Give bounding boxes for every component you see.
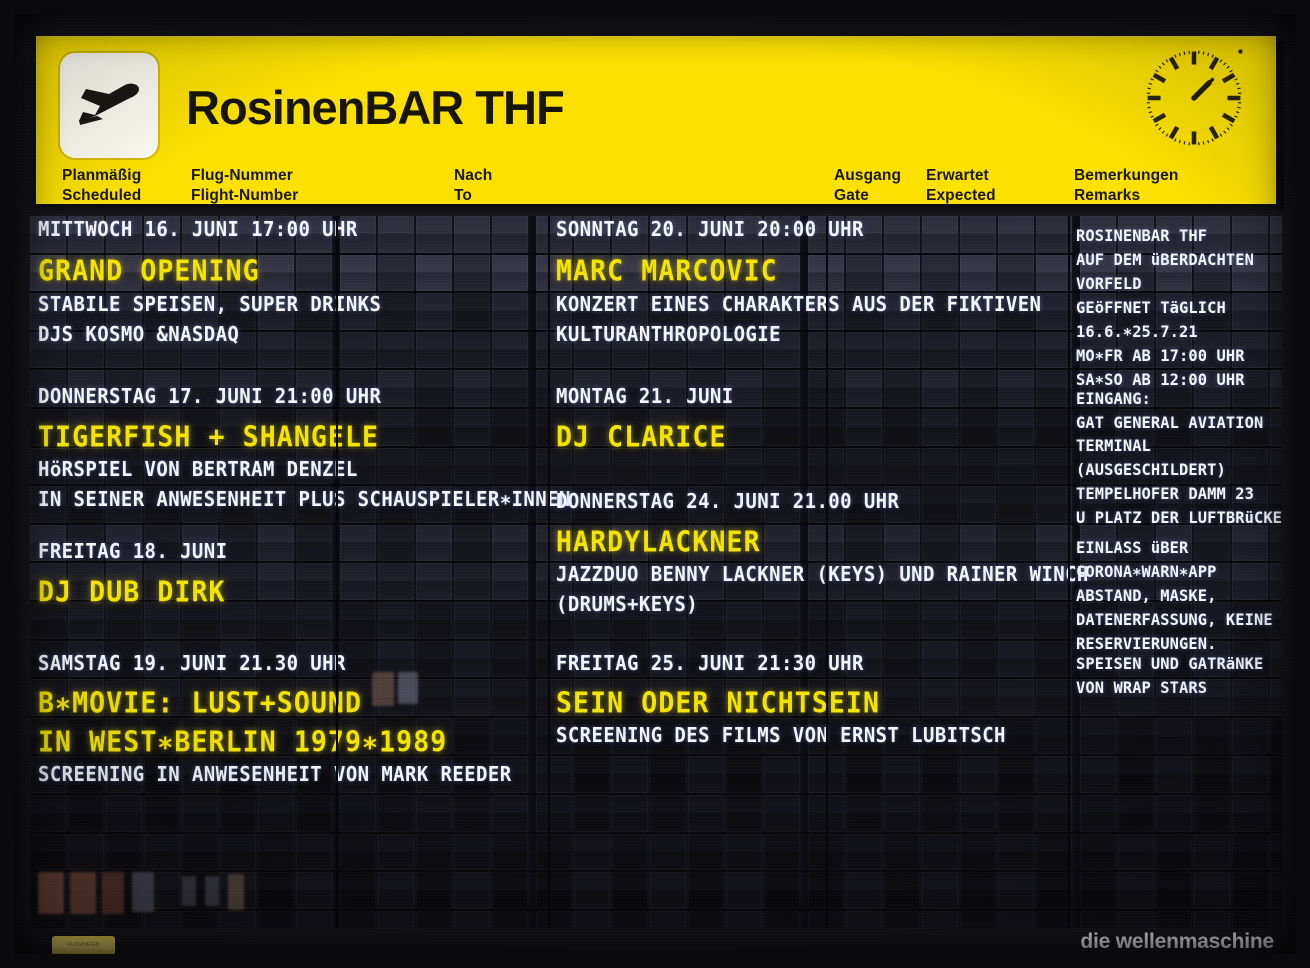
- flap-module: [574, 679, 610, 716]
- flap-module: [340, 834, 376, 871]
- flap-module: [258, 756, 294, 793]
- flap-module: [998, 795, 1034, 832]
- flap-module: [1118, 795, 1154, 832]
- flap-module: [922, 216, 958, 253]
- flap-module: [612, 332, 648, 369]
- flap-module: [1036, 872, 1072, 909]
- flap-module: [416, 641, 452, 678]
- flap-module: [1156, 679, 1192, 716]
- flap-module: [884, 602, 920, 639]
- flap-module: [1232, 370, 1268, 407]
- flap-module: [416, 293, 452, 330]
- flap-module: [846, 834, 882, 871]
- flap-module: [574, 602, 610, 639]
- flap-module: [650, 216, 686, 253]
- flap-module: [612, 756, 648, 793]
- flap-module: [1232, 795, 1268, 832]
- flap-module: [258, 409, 294, 446]
- flap-module: [1080, 872, 1116, 909]
- flap-module: [378, 834, 414, 871]
- flap-module: [1118, 370, 1154, 407]
- flap-module: [612, 641, 648, 678]
- flap-module: [922, 525, 958, 562]
- flap-module: [612, 718, 648, 755]
- flap-module: [764, 872, 800, 909]
- flap-module: [1036, 756, 1072, 793]
- flap-module: [960, 756, 996, 793]
- flap-module: [1080, 448, 1116, 485]
- grid-divider: [826, 216, 828, 928]
- flap-module: [574, 448, 610, 485]
- flap-module: [612, 795, 648, 832]
- flap-module: [998, 872, 1034, 909]
- flap-module: [340, 872, 376, 909]
- flap-module: [30, 293, 66, 330]
- flap-module: [726, 486, 762, 523]
- flap-module: [764, 486, 800, 523]
- flap-module: [574, 872, 610, 909]
- flap-module: [998, 679, 1034, 716]
- flap-module: [182, 409, 218, 446]
- flap-module: [454, 486, 490, 523]
- flap-module: [1194, 911, 1230, 928]
- flap-module: [726, 872, 762, 909]
- flap-module: [1270, 563, 1282, 600]
- flap-module: [220, 409, 256, 446]
- flap-module: [922, 795, 958, 832]
- flap-module: [726, 834, 762, 871]
- flap-module: [574, 911, 610, 928]
- flap-artifact: [70, 872, 96, 914]
- flap-row: [30, 911, 1282, 928]
- flap-module: [182, 679, 218, 716]
- flap-module: [258, 255, 294, 292]
- flap-module: [492, 911, 528, 928]
- flap-module: [182, 293, 218, 330]
- flap-module: [296, 563, 332, 600]
- flap-module: [536, 718, 572, 755]
- flap-module: [846, 486, 882, 523]
- flap-module: [182, 486, 218, 523]
- flap-module: [688, 718, 724, 755]
- flap-module: [764, 563, 800, 600]
- flap-module: [612, 448, 648, 485]
- flap-module: [492, 370, 528, 407]
- flap-module: [30, 679, 66, 716]
- flap-module: [764, 216, 800, 253]
- flap-module: [960, 679, 996, 716]
- flap-module: [1194, 409, 1230, 446]
- flap-module: [764, 525, 800, 562]
- flap-module: [416, 255, 452, 292]
- flap-module: [492, 448, 528, 485]
- flap-module: [884, 872, 920, 909]
- flap-module: [68, 641, 104, 678]
- flap-module: [922, 911, 958, 928]
- flap-module: [846, 756, 882, 793]
- flap-module: [416, 409, 452, 446]
- flap-module: [492, 602, 528, 639]
- flap-module: [296, 718, 332, 755]
- flap-module: [884, 448, 920, 485]
- flap-module: [416, 679, 452, 716]
- flap-module: [1118, 525, 1154, 562]
- flap-module: [1156, 255, 1192, 292]
- flap-module: [688, 255, 724, 292]
- flap-module: [68, 370, 104, 407]
- flap-module: [998, 409, 1034, 446]
- flap-module: [1036, 448, 1072, 485]
- flap-module: [960, 370, 996, 407]
- flap-module: [612, 911, 648, 928]
- flap-module: [258, 679, 294, 716]
- flap-row: [30, 448, 1282, 487]
- flap-module: [574, 525, 610, 562]
- flap-module: [220, 293, 256, 330]
- flap-module: [574, 370, 610, 407]
- sticker-line-1: FLUGHAFEN: [52, 942, 115, 950]
- flap-module: [1156, 602, 1192, 639]
- flap-module: [846, 679, 882, 716]
- flap-module: [258, 718, 294, 755]
- flap-module: [726, 293, 762, 330]
- flap-module: [726, 255, 762, 292]
- flap-module: [960, 911, 996, 928]
- flap-module: [220, 679, 256, 716]
- flap-module: [106, 679, 142, 716]
- station-clock: [1140, 44, 1248, 152]
- flap-module: [454, 563, 490, 600]
- flap-module: [1118, 641, 1154, 678]
- flap-module: [182, 795, 218, 832]
- flap-module: [220, 525, 256, 562]
- flap-module: [106, 216, 142, 253]
- flap-module: [922, 332, 958, 369]
- flap-module: [340, 795, 376, 832]
- flap-module: [220, 602, 256, 639]
- flap-artifact: [132, 872, 154, 912]
- flap-module: [1232, 756, 1268, 793]
- flap-module: [1156, 563, 1192, 600]
- flap-module: [574, 409, 610, 446]
- flap-module: [296, 448, 332, 485]
- flap-module: [454, 718, 490, 755]
- flap-module: [884, 486, 920, 523]
- flap-module: [182, 911, 218, 928]
- flap-module: [258, 563, 294, 600]
- flap-module: [378, 293, 414, 330]
- flap-module: [258, 795, 294, 832]
- flap-module: [884, 834, 920, 871]
- flap-module: [492, 255, 528, 292]
- flap-module: [688, 602, 724, 639]
- flap-module: [492, 332, 528, 369]
- flap-module: [340, 409, 376, 446]
- flap-module: [1270, 486, 1282, 523]
- flap-module: [846, 255, 882, 292]
- flap-module: [340, 602, 376, 639]
- flap-module: [1036, 486, 1072, 523]
- flap-module: [612, 409, 648, 446]
- flap-module: [220, 718, 256, 755]
- flap-module: [296, 872, 332, 909]
- flap-module: [68, 834, 104, 871]
- flap-module: [220, 332, 256, 369]
- flap-module: [1080, 525, 1116, 562]
- flap-module: [1080, 641, 1116, 678]
- flap-module: [258, 872, 294, 909]
- flap-module: [416, 872, 452, 909]
- flap-module: [612, 525, 648, 562]
- flap-module: [454, 679, 490, 716]
- flap-module: [182, 756, 218, 793]
- flap-module: [106, 834, 142, 871]
- flap-module: [68, 602, 104, 639]
- flap-module: [378, 255, 414, 292]
- flap-module: [296, 409, 332, 446]
- flap-module: [340, 563, 376, 600]
- flap-module: [1156, 486, 1192, 523]
- flap-module: [30, 718, 66, 755]
- flap-module: [1194, 679, 1230, 716]
- flap-module: [68, 679, 104, 716]
- flap-module: [764, 795, 800, 832]
- flap-module: [536, 216, 572, 253]
- flap-module: [182, 448, 218, 485]
- flap-module: [1080, 718, 1116, 755]
- flap-module: [340, 641, 376, 678]
- flap-module: [258, 448, 294, 485]
- flap-module: [340, 486, 376, 523]
- airplane-departure-icon: [60, 53, 158, 158]
- flap-module: [846, 409, 882, 446]
- flap-module: [416, 602, 452, 639]
- flap-row: [30, 795, 1282, 834]
- flap-module: [296, 525, 332, 562]
- flap-module: [296, 602, 332, 639]
- flap-module: [1118, 486, 1154, 523]
- flap-module: [612, 293, 648, 330]
- flap-module: [220, 641, 256, 678]
- flap-module: [536, 756, 572, 793]
- sticker-line-2: TEMPELHOF: [52, 956, 115, 961]
- flap-module: [1270, 718, 1282, 755]
- flap-module: [1270, 641, 1282, 678]
- column-header-to: Nach To: [454, 166, 492, 207]
- flap-module: [1118, 332, 1154, 369]
- flap-module: [612, 486, 648, 523]
- flap-module: [454, 293, 490, 330]
- flap-module: [922, 563, 958, 600]
- flap-module: [846, 872, 882, 909]
- flap-module: [650, 448, 686, 485]
- flap-module: [258, 641, 294, 678]
- flap-module: [960, 718, 996, 755]
- flap-module: [922, 255, 958, 292]
- flap-module: [922, 409, 958, 446]
- flap-module: [650, 911, 686, 928]
- flap-module: [1270, 293, 1282, 330]
- flap-module: [612, 602, 648, 639]
- flap-module: [960, 255, 996, 292]
- flap-module: [68, 409, 104, 446]
- flap-module: [574, 718, 610, 755]
- flap-module: [536, 602, 572, 639]
- flap-module: [922, 679, 958, 716]
- flap-module: [258, 602, 294, 639]
- flap-module: [296, 293, 332, 330]
- flap-module: [1270, 409, 1282, 446]
- flap-module: [144, 486, 180, 523]
- flap-module: [688, 872, 724, 909]
- flap-module: [296, 795, 332, 832]
- flap-module: [846, 718, 882, 755]
- flap-module: [416, 332, 452, 369]
- flap-module: [922, 293, 958, 330]
- flap-module: [492, 525, 528, 562]
- flap-module: [1194, 448, 1230, 485]
- flap-module: [960, 216, 996, 253]
- flap-module: [1036, 834, 1072, 871]
- flap-module: [998, 602, 1034, 639]
- flap-module: [182, 834, 218, 871]
- flap-module: [922, 448, 958, 485]
- flap-module: [688, 834, 724, 871]
- flap-module: [1080, 563, 1116, 600]
- flap-module: [1036, 409, 1072, 446]
- flap-module: [340, 255, 376, 292]
- flap-module: [1232, 293, 1268, 330]
- flap-module: [30, 370, 66, 407]
- flap-module: [1194, 834, 1230, 871]
- flap-module: [574, 332, 610, 369]
- flap-module: [726, 332, 762, 369]
- flap-module: [378, 448, 414, 485]
- flap-module: [574, 216, 610, 253]
- flap-module: [182, 718, 218, 755]
- flap-module: [258, 332, 294, 369]
- flap-module: [1270, 834, 1282, 871]
- flap-module: [884, 718, 920, 755]
- flap-module: [650, 795, 686, 832]
- flap-module: [220, 370, 256, 407]
- flap-module: [998, 216, 1034, 253]
- flap-module: [492, 293, 528, 330]
- flap-module: [536, 370, 572, 407]
- flap-module: [536, 641, 572, 678]
- flap-module: [30, 216, 66, 253]
- flap-module: [1232, 641, 1268, 678]
- flap-module: [726, 756, 762, 793]
- flap-module: [922, 718, 958, 755]
- flap-module: [650, 293, 686, 330]
- flap-module: [1118, 563, 1154, 600]
- flap-module: [726, 370, 762, 407]
- flap-module: [846, 448, 882, 485]
- flap-module: [960, 872, 996, 909]
- flap-module: [688, 525, 724, 562]
- flap-module: [688, 486, 724, 523]
- flap-module: [454, 756, 490, 793]
- flap-module: [340, 525, 376, 562]
- flap-module: [1118, 255, 1154, 292]
- flap-module: [1080, 216, 1116, 253]
- flap-module: [30, 834, 66, 871]
- flap-module: [1118, 602, 1154, 639]
- flap-module: [1036, 911, 1072, 928]
- flap-module: [378, 332, 414, 369]
- flap-module: [960, 332, 996, 369]
- flap-module: [726, 718, 762, 755]
- flap-module: [296, 641, 332, 678]
- flap-module: [726, 641, 762, 678]
- flap-module: [846, 525, 882, 562]
- flap-module: [1080, 255, 1116, 292]
- flap-module: [764, 718, 800, 755]
- flap-module: [536, 911, 572, 928]
- flap-artifact: [38, 872, 64, 914]
- flap-module: [1194, 795, 1230, 832]
- flap-module: [144, 602, 180, 639]
- flap-module: [296, 332, 332, 369]
- flap-module: [492, 872, 528, 909]
- page-title: RosinenBAR THF: [186, 84, 564, 131]
- flap-module: [416, 448, 452, 485]
- flap-module: [1036, 293, 1072, 330]
- flap-module: [296, 370, 332, 407]
- flap-module: [340, 448, 376, 485]
- flap-module: [1080, 795, 1116, 832]
- flap-module: [1270, 795, 1282, 832]
- flap-row: [30, 756, 1282, 795]
- flap-module: [492, 486, 528, 523]
- flap-module: [30, 563, 66, 600]
- flap-module: [416, 486, 452, 523]
- flap-module: [1156, 718, 1192, 755]
- flap-module: [378, 216, 414, 253]
- flap-module: [340, 718, 376, 755]
- flap-module: [536, 332, 572, 369]
- flap-module: [726, 795, 762, 832]
- flap-module: [378, 409, 414, 446]
- flap-row: [30, 834, 1282, 873]
- flap-module: [998, 834, 1034, 871]
- flap-module: [378, 795, 414, 832]
- flap-module: [688, 448, 724, 485]
- flap-module: [650, 370, 686, 407]
- flap-module: [1156, 795, 1192, 832]
- flap-module: [1118, 834, 1154, 871]
- flap-module: [884, 911, 920, 928]
- flap-module: [68, 525, 104, 562]
- flap-module: [688, 293, 724, 330]
- flap-module: [492, 679, 528, 716]
- flap-module: [296, 216, 332, 253]
- flap-module: [884, 641, 920, 678]
- flap-module: [30, 409, 66, 446]
- flap-module: [258, 911, 294, 928]
- flap-module: [30, 795, 66, 832]
- flap-module: [764, 834, 800, 871]
- flap-module: [884, 370, 920, 407]
- flap-module: [378, 370, 414, 407]
- flap-module: [454, 834, 490, 871]
- flap-module: [68, 795, 104, 832]
- flap-module: [884, 525, 920, 562]
- flap-module: [884, 409, 920, 446]
- flap-module: [378, 872, 414, 909]
- flap-module: [416, 756, 452, 793]
